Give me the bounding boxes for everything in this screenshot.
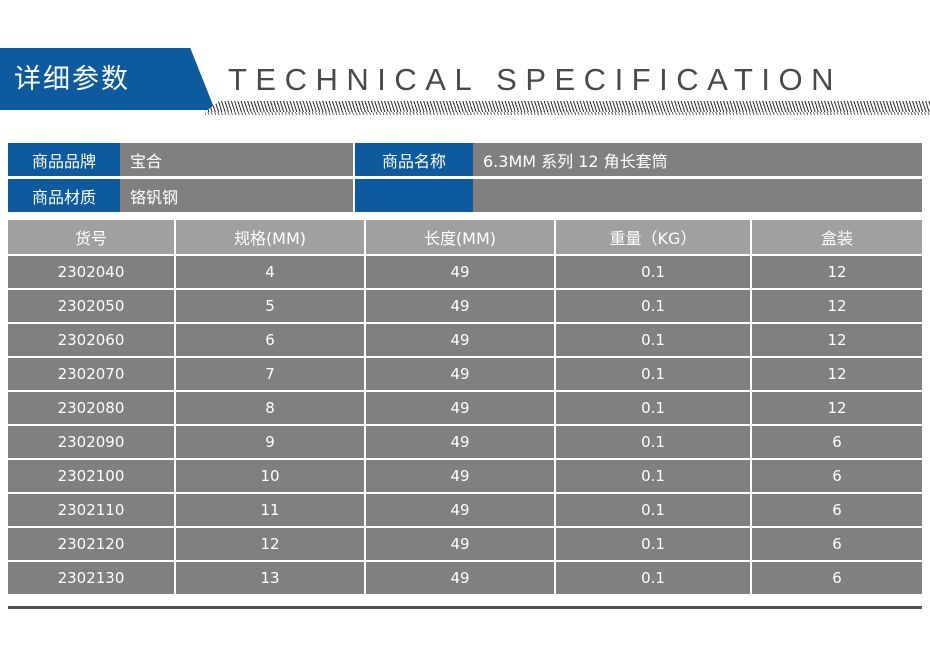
info-value-empty: [473, 179, 922, 212]
info-label-empty: [355, 179, 473, 212]
table-row: 2302090 9 49 0.1 6: [8, 426, 922, 460]
banner-title: 详细参数: [14, 57, 130, 96]
info-label-product-name: 商品名称: [355, 143, 473, 176]
cell-box: 12: [752, 392, 922, 426]
cell-item-no: 2302050: [8, 290, 176, 324]
cell-box: 6: [752, 562, 922, 594]
cell-spec: 9: [176, 426, 366, 460]
info-label-brand: 商品品牌: [8, 143, 120, 176]
cell-length: 49: [366, 290, 556, 324]
table-row: 2302050 5 49 0.1 12: [8, 290, 922, 324]
cell-item-no: 2302080: [8, 392, 176, 426]
info-row: 商品品牌 宝合 商品名称 6.3MM 系列 12 角长套筒: [8, 143, 922, 176]
table-row: 2302110 11 49 0.1 6: [8, 494, 922, 528]
cell-spec: 5: [176, 290, 366, 324]
cell-length: 49: [366, 256, 556, 290]
column-header-item-no: 货号: [8, 220, 176, 256]
cell-spec: 12: [176, 528, 366, 562]
cell-spec: 4: [176, 256, 366, 290]
cell-length: 49: [366, 460, 556, 494]
cell-item-no: 2302060: [8, 324, 176, 358]
cell-weight: 0.1: [556, 494, 752, 528]
product-info-block: 商品品牌 宝合 商品名称 6.3MM 系列 12 角长套筒 商品材质 铬钒钢: [8, 143, 922, 215]
cell-item-no: 2302090: [8, 426, 176, 460]
cell-length: 49: [366, 392, 556, 426]
column-header-box: 盒装: [752, 220, 922, 256]
cell-item-no: 2302120: [8, 528, 176, 562]
cell-weight: 0.1: [556, 562, 752, 594]
cell-length: 49: [366, 528, 556, 562]
specification-table: 货号 规格(MM) 长度(MM) 重量（KG） 盒装 2302040 4 49 …: [8, 220, 922, 594]
cell-item-no: 2302070: [8, 358, 176, 392]
table-row: 2302060 6 49 0.1 12: [8, 324, 922, 358]
info-row: 商品材质 铬钒钢: [8, 179, 922, 212]
table-row: 2302070 7 49 0.1 12: [8, 358, 922, 392]
cell-weight: 0.1: [556, 460, 752, 494]
cell-item-no: 2302100: [8, 460, 176, 494]
cell-item-no: 2302130: [8, 562, 176, 594]
cell-box: 6: [752, 494, 922, 528]
cell-weight: 0.1: [556, 392, 752, 426]
cell-spec: 7: [176, 358, 366, 392]
cell-box: 12: [752, 324, 922, 358]
header-english-title: TECHNICAL SPECIFICATION: [228, 62, 842, 98]
cell-spec: 13: [176, 562, 366, 594]
table-header-row: 货号 规格(MM) 长度(MM) 重量（KG） 盒装: [8, 220, 922, 256]
cell-length: 49: [366, 426, 556, 460]
cell-item-no: 2302110: [8, 494, 176, 528]
info-value-brand: 宝合: [120, 143, 353, 176]
cell-weight: 0.1: [556, 290, 752, 324]
cell-box: 6: [752, 426, 922, 460]
info-label-material: 商品材质: [8, 179, 120, 212]
column-header-spec: 规格(MM): [176, 220, 366, 256]
cell-item-no: 2302040: [8, 256, 176, 290]
cell-weight: 0.1: [556, 256, 752, 290]
table-row: 2302130 13 49 0.1 6: [8, 562, 922, 594]
table-bottom-rule: [8, 606, 922, 609]
cell-spec: 10: [176, 460, 366, 494]
table-row: 2302100 10 49 0.1 6: [8, 460, 922, 494]
column-header-weight: 重量（KG）: [556, 220, 752, 256]
cell-spec: 11: [176, 494, 366, 528]
table-row: 2302120 12 49 0.1 6: [8, 528, 922, 562]
column-header-length: 长度(MM): [366, 220, 556, 256]
cell-weight: 0.1: [556, 426, 752, 460]
hatch-pattern-secondary: [205, 112, 930, 115]
cell-box: 12: [752, 358, 922, 392]
info-value-material: 铬钒钢: [120, 179, 353, 212]
cell-box: 12: [752, 290, 922, 324]
cell-weight: 0.1: [556, 528, 752, 562]
cell-box: 12: [752, 256, 922, 290]
cell-weight: 0.1: [556, 358, 752, 392]
cell-weight: 0.1: [556, 324, 752, 358]
cell-length: 49: [366, 324, 556, 358]
cell-length: 49: [366, 494, 556, 528]
table-row: 2302080 8 49 0.1 12: [8, 392, 922, 426]
cell-spec: 8: [176, 392, 366, 426]
cell-box: 6: [752, 460, 922, 494]
page-header: 详细参数 TECHNICAL SPECIFICATION: [0, 0, 930, 118]
cell-length: 49: [366, 358, 556, 392]
cell-spec: 6: [176, 324, 366, 358]
cell-box: 6: [752, 528, 922, 562]
hatch-pattern: [205, 101, 930, 112]
table-row: 2302040 4 49 0.1 12: [8, 256, 922, 290]
info-value-product-name: 6.3MM 系列 12 角长套筒: [473, 143, 922, 176]
cell-length: 49: [366, 562, 556, 594]
